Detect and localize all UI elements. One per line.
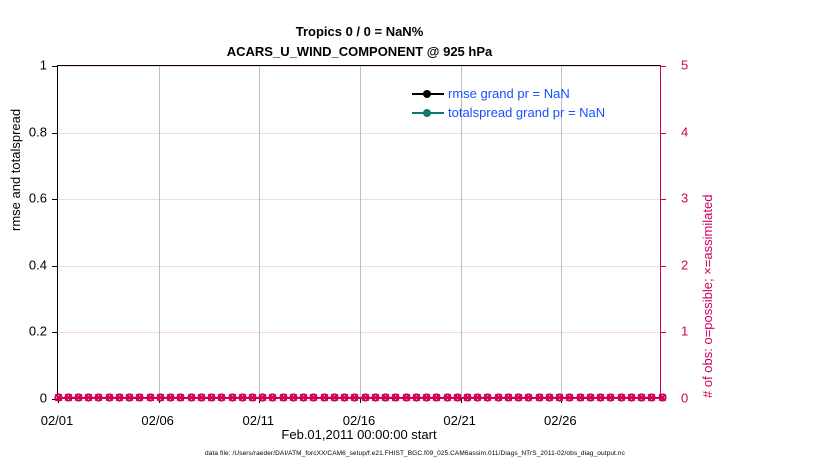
y-axis-left-tick <box>52 66 58 67</box>
y-axis-right-tick <box>660 66 666 67</box>
legend-marker-totalspread-icon <box>412 107 444 119</box>
gridline-vertical <box>259 66 260 397</box>
y-axis-right-tick-label: 5 <box>681 58 688 73</box>
y-axis-right-tick-label: 1 <box>681 324 688 339</box>
x-axis-tick-label: 02/11 <box>243 413 275 428</box>
y-axis-left-tick <box>52 133 58 134</box>
y-axis-right-tick-label: 0 <box>681 391 688 406</box>
gridline-horizontal <box>58 266 660 267</box>
y-axis-left-tick <box>52 199 58 200</box>
page-title: Tropics 0 / 0 = NaN% <box>57 22 662 42</box>
chart-legend: rmse grand pr = NaN totalspread grand pr… <box>412 84 652 122</box>
y-axis-right-tick <box>660 199 666 200</box>
y-axis-left-tick-label: 0.6 <box>29 191 47 206</box>
y-axis-left-tick-label: 0.8 <box>29 124 47 139</box>
obs-baseline <box>58 397 660 399</box>
y-axis-right-title: # of obs: o=possible; ×=assimilated <box>700 195 715 398</box>
chart-title-block: Tropics 0 / 0 = NaN% ACARS_U_WIND_COMPON… <box>57 22 662 62</box>
legend-label-rmse: rmse grand pr = NaN <box>448 86 570 101</box>
x-axis-tick-label: 02/01 <box>41 413 74 428</box>
obs-count-series <box>58 396 660 398</box>
y-axis-left-tick <box>52 332 58 333</box>
gridline-vertical <box>360 66 361 397</box>
x-axis-tick-label: 02/21 <box>443 413 476 428</box>
y-axis-left-tick-label: 0.2 <box>29 324 47 339</box>
y-axis-right-tick-label: 4 <box>681 124 688 139</box>
gridline-horizontal <box>58 133 660 134</box>
x-axis-tick-label: 02/26 <box>544 413 577 428</box>
y-axis-left-tick-label: 1 <box>40 58 47 73</box>
y-axis-right-tick <box>660 133 666 134</box>
y-axis-left-title: rmse and totalspread <box>8 109 23 231</box>
x-axis-title: Feb.01,2011 00:00:00 start <box>57 427 661 442</box>
legend-marker-rmse-icon <box>412 88 444 100</box>
data-file-caption: data file: /Users/raeder/DAI/ATM_forcXX/… <box>0 450 830 457</box>
gridline-horizontal <box>58 199 660 200</box>
y-axis-right-tick <box>660 332 666 333</box>
legend-item-rmse: rmse grand pr = NaN <box>412 84 652 103</box>
gridline-vertical <box>159 66 160 397</box>
chart-figure: Tropics 0 / 0 = NaN% ACARS_U_WIND_COMPON… <box>0 0 830 470</box>
gridline-horizontal <box>58 332 660 333</box>
x-axis-tick-label: 02/16 <box>343 413 376 428</box>
legend-label-totalspread: totalspread grand pr = NaN <box>448 105 605 120</box>
y-axis-right-tick-label: 3 <box>681 191 688 206</box>
y-axis-right-tick-label: 2 <box>681 257 688 272</box>
chart-subtitle: ACARS_U_WIND_COMPONENT @ 925 hPa <box>57 42 662 62</box>
gridline-horizontal <box>58 66 660 67</box>
y-axis-left-tick-label: 0 <box>40 391 47 406</box>
y-axis-left-tick-label: 0.4 <box>29 257 47 272</box>
y-axis-right-tick <box>660 266 666 267</box>
y-axis-left-tick <box>52 266 58 267</box>
legend-item-totalspread: totalspread grand pr = NaN <box>412 103 652 122</box>
x-axis-tick-label: 02/06 <box>141 413 174 428</box>
